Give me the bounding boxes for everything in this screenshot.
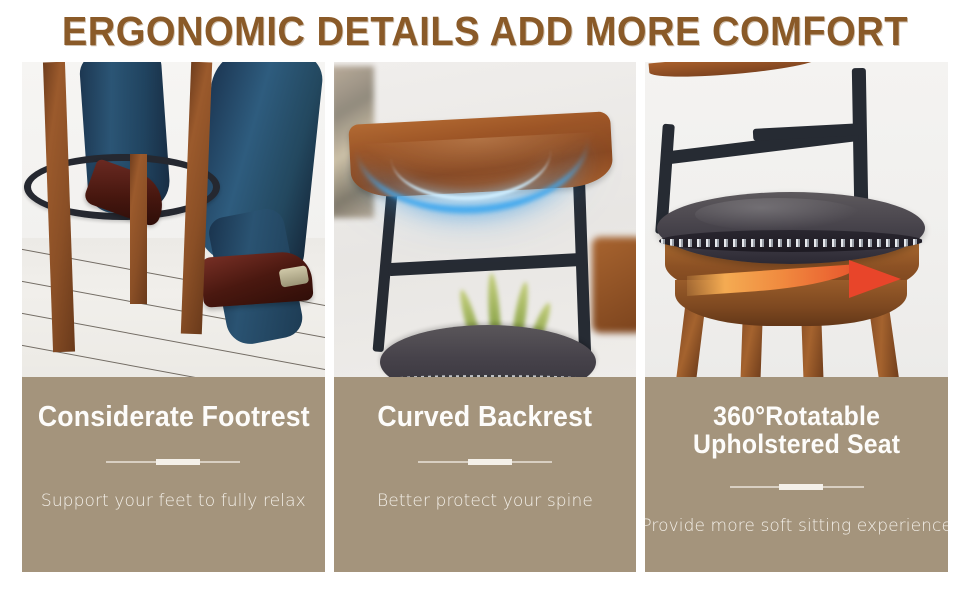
feature-card-rotatable-seat[interactable]: 360°Rotatable Upholstered Seat Provide m… — [645, 62, 948, 572]
feature-card-curved-backrest[interactable]: Curved Backrest Better protect your spin… — [334, 62, 637, 572]
footrest-caption-panel: Considerate Footrest Support your feet t… — [22, 377, 325, 572]
feature-subtitle: Better protect your spine — [377, 491, 593, 511]
background-furniture-blur — [592, 237, 636, 333]
page-title: ERGONOMIC DETAILS ADD MORE COMFORT — [62, 8, 908, 55]
swivel-seat-photo — [645, 62, 948, 377]
feature-title: Considerate Footrest — [37, 403, 309, 433]
feature-card-considerate-footrest[interactable]: Considerate Footrest Support your feet t… — [22, 62, 325, 572]
divider-highlight — [156, 459, 200, 465]
nailhead-stud-band — [659, 230, 923, 252]
leather-shoe-on-floor — [200, 250, 313, 308]
divider-highlight — [779, 484, 823, 490]
rotation-arrow-icon — [687, 260, 901, 294]
feature-title: Curved Backrest — [378, 403, 593, 433]
backrest-photo — [334, 62, 637, 377]
rotation-arrow-head — [849, 260, 901, 298]
feature-subtitle: Provide more soft sitting experience — [645, 516, 948, 536]
rotation-arrow-shaft — [687, 264, 859, 296]
footrest-photo — [22, 62, 325, 377]
feature-cards-row: Considerate Footrest Support your feet t… — [0, 62, 970, 572]
divider — [418, 459, 552, 465]
divider-highlight — [468, 459, 512, 465]
divider — [730, 484, 864, 490]
round-leather-seat — [657, 192, 925, 264]
nailhead-trim — [386, 375, 590, 377]
divider — [106, 459, 240, 465]
rotatable-seat-caption-panel: 360°Rotatable Upholstered Seat Provide m… — [645, 377, 948, 572]
feature-title: 360°Rotatable Upholstered Seat — [693, 403, 900, 458]
feature-subtitle: Support your feet to fully relax — [41, 491, 306, 511]
banner-header: ERGONOMIC DETAILS ADD MORE COMFORT — [0, 0, 970, 62]
backrest-caption-panel: Curved Backrest Better protect your spin… — [334, 377, 637, 572]
stool-leg-rear — [130, 154, 147, 304]
